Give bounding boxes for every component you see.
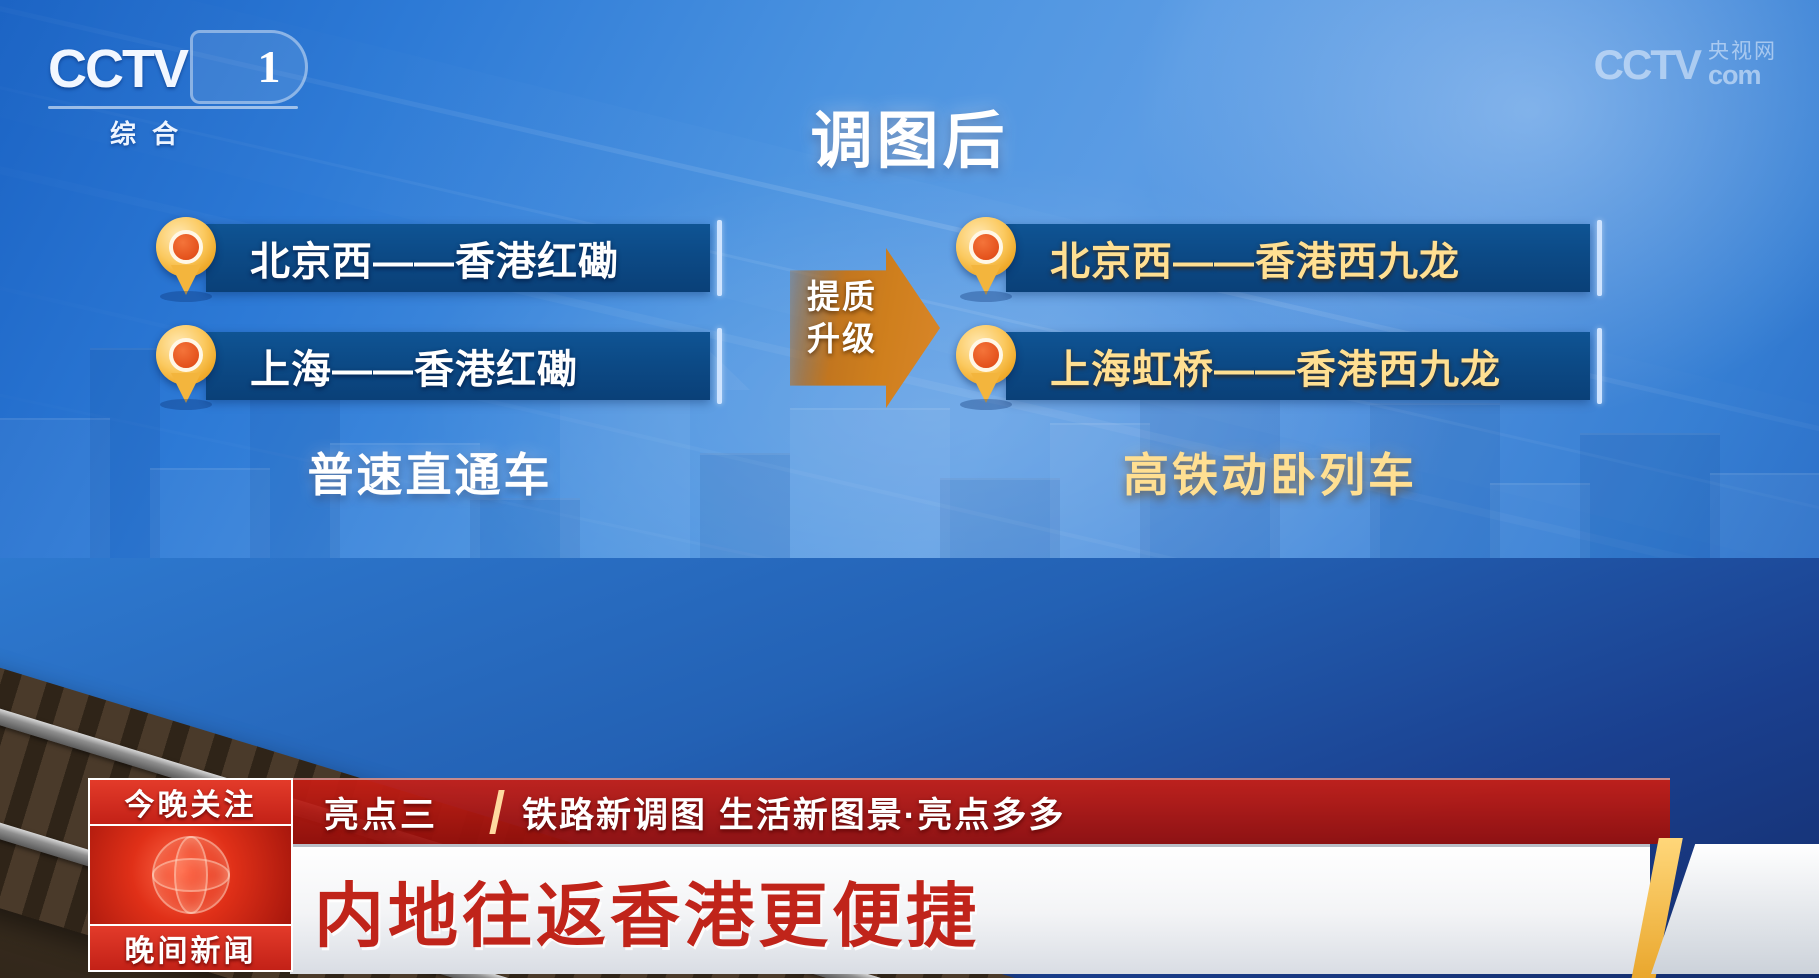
route-label: 上海——香港红磡 [250,337,578,395]
tag-separator [489,790,504,834]
arrow-label-line2: 升级 [790,318,894,360]
banner-subhead-row: 亮点三 铁路新调图 生活新图景·亮点多多 [290,778,1670,844]
banner-headline-row: 内地往返香港更便捷 [290,844,1650,974]
arrow-label: 提质 升级 [790,276,894,360]
globe-icon [88,826,293,924]
upgrade-arrow: 提质 升级 [790,248,940,408]
route-bar: 北京西——香港红磡 [206,224,710,292]
route-bar: 北京西——香港西九龙 [1006,224,1590,292]
watermark-com-text: com [1708,62,1777,89]
map-pin-icon [950,323,1022,409]
route-row: 上海虹桥——香港西九龙 [950,323,1590,409]
route-label: 北京西——香港西九龙 [1050,229,1460,287]
route-bar: 上海——香港红磡 [206,332,710,400]
panel-before-adjustment: 北京西——香港红磡 上海——香港红磡 普速直通车 [150,215,710,431]
map-pin-icon [950,215,1022,301]
route-label: 上海虹桥——香港西九龙 [1050,337,1501,395]
banner-subheadline: 铁路新调图 生活新图景·亮点多多 [522,787,1065,838]
route-label: 北京西——香港红磡 [250,229,619,287]
panel-after-adjustment: 北京西——香港西九龙 上海虹桥——香港西九龙 高铁动卧列车 [950,215,1590,431]
banner-headline: 内地往返香港更便捷 [290,860,980,961]
banner-rows: 亮点三 铁路新调图 生活新图景·亮点多多 内地往返香港更便捷 [290,778,1819,974]
arrow-label-line1: 提质 [790,276,894,318]
badge-evening-news: 晚间新闻 [88,924,293,972]
badge-tonight-focus: 今晚关注 [88,778,293,826]
cctv-com-watermark: CCTV 央视网 com [1594,34,1777,96]
panel-caption-right: 高铁动卧列车 [950,439,1590,505]
program-badge-column: 今晚关注 晚间新闻 [88,778,293,974]
lower-third-banner: 今晚关注 晚间新闻 亮点三 铁路新调图 生活新图景·亮点多多 内地往返香港更便捷 [0,678,1819,978]
route-row: 北京西——香港西九龙 [950,215,1590,301]
panel-caption-left: 普速直通车 [150,439,710,505]
route-bar: 上海虹桥——香港西九龙 [1006,332,1590,400]
route-row: 上海——香港红磡 [150,323,710,409]
broadcast-screen: CCTV 1 综合 CCTV 央视网 com 调图后 北京西——香港红磡 [0,0,1819,978]
watermark-chinese-text: 央视网 [1708,41,1777,62]
watermark-cctv-text: CCTV [1594,41,1700,89]
map-pin-icon [150,323,222,409]
map-pin-icon [150,215,222,301]
route-row: 北京西——香港红磡 [150,215,710,301]
page-title: 调图后 [0,90,1819,180]
highlight-tag: 亮点三 [290,780,472,844]
